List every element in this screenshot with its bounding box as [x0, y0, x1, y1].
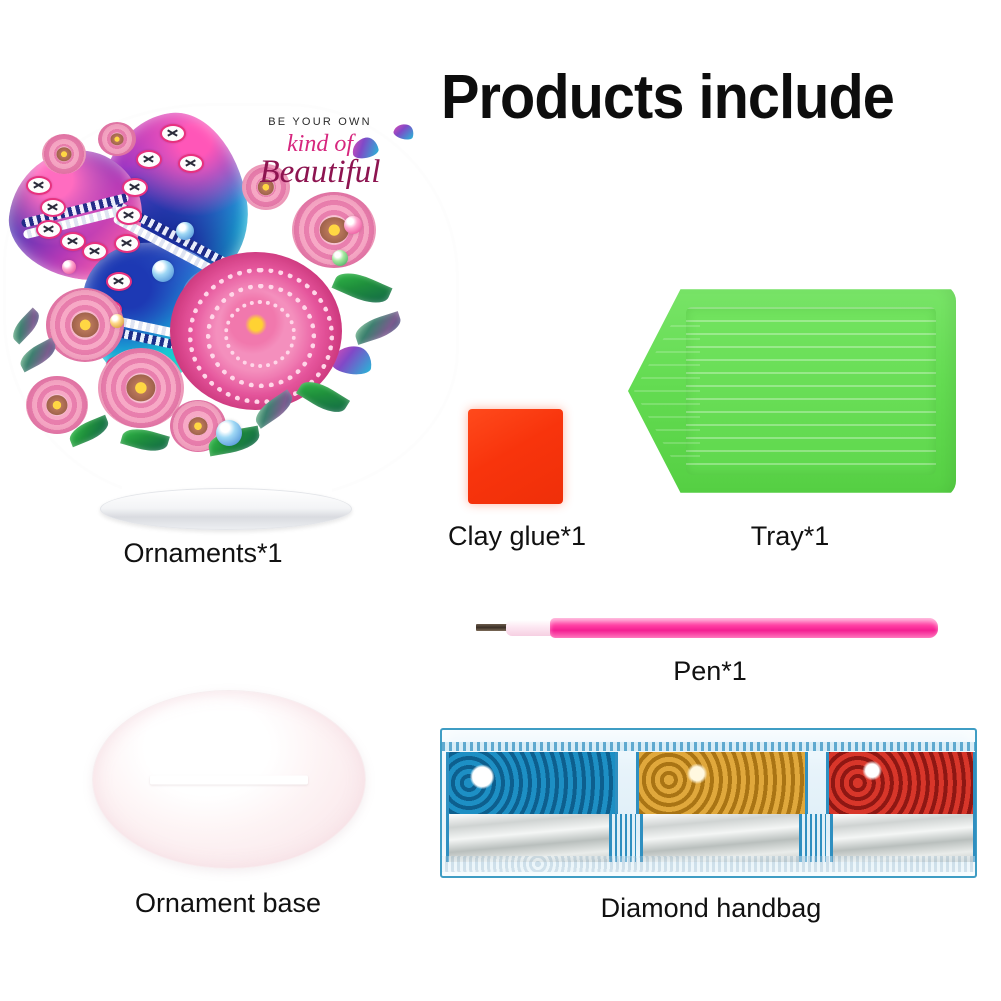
blue-rhinestones	[449, 752, 615, 814]
special-drill-marker	[160, 124, 186, 143]
bag-compartment	[446, 752, 618, 814]
caption-pen: Pen*1	[610, 656, 810, 687]
gem-icon	[62, 260, 76, 274]
caption-ornaments: Ornaments*1	[58, 538, 348, 569]
base-slot	[150, 775, 308, 784]
gem-icon	[344, 216, 362, 234]
gold-rhinestones	[639, 752, 805, 814]
gem-icon	[110, 314, 124, 328]
drill-pen-icon	[476, 617, 938, 639]
gem-icon	[152, 260, 174, 282]
product-contents-poster: Products include	[0, 0, 1001, 1001]
page-title: Products include	[441, 62, 894, 133]
gem-icon	[332, 250, 348, 266]
gem-icon	[176, 222, 194, 240]
rhinestone-zip-bag-icon	[440, 728, 977, 878]
bag-seam-ribs	[610, 814, 636, 862]
clay-glue-square-icon	[468, 409, 563, 504]
special-drill-marker	[122, 178, 148, 197]
ornament-artwork: BE YOUR OWN kind of Beautiful	[2, 100, 462, 505]
special-drill-marker	[26, 176, 52, 195]
gem-icon	[216, 420, 242, 446]
bag-compartment	[636, 752, 808, 814]
special-drill-marker	[178, 154, 204, 173]
caption-clay-glue: Clay glue*1	[417, 521, 617, 552]
special-drill-marker	[114, 234, 140, 253]
special-drill-marker	[36, 220, 62, 239]
bag-seam-ribs	[800, 814, 826, 862]
mini-butterfly-icon	[392, 122, 415, 142]
red-rhinestones	[829, 752, 973, 814]
chrysanthemum-icon	[42, 134, 86, 174]
bag-compartment	[826, 752, 976, 814]
bag-bottom-edge	[442, 856, 975, 872]
special-drill-marker	[40, 198, 66, 217]
special-drill-marker	[136, 150, 162, 169]
pen-metal-tip	[476, 624, 510, 631]
artwork-line-1: BE YOUR OWN	[245, 116, 395, 128]
bag-foil-panel	[640, 814, 802, 862]
artwork-text-block: BE YOUR OWN kind of Beautiful	[245, 116, 395, 191]
special-drill-marker	[82, 242, 108, 261]
artwork-line-3: Beautiful	[245, 154, 395, 191]
bag-foil-panel	[830, 814, 976, 862]
tray-pointed-end	[634, 325, 700, 457]
ornament-acrylic-stand	[100, 488, 352, 530]
drill-tray-icon	[628, 285, 956, 497]
chrysanthemum-icon	[98, 122, 136, 156]
oval-stand-base-icon	[92, 690, 366, 869]
pen-barrel	[550, 618, 938, 638]
ornament-product-figure: BE YOUR OWN kind of Beautiful	[2, 100, 462, 530]
caption-tray: Tray*1	[690, 521, 890, 552]
caption-ornament-base: Ornament base	[90, 888, 366, 919]
tray-grooves	[686, 307, 936, 475]
special-drill-marker	[116, 206, 142, 225]
caption-diamond-handbag: Diamond handbag	[576, 893, 846, 924]
special-drill-marker	[106, 272, 132, 291]
bag-foil-panel	[446, 814, 612, 862]
bag-zip-strip	[442, 742, 975, 751]
